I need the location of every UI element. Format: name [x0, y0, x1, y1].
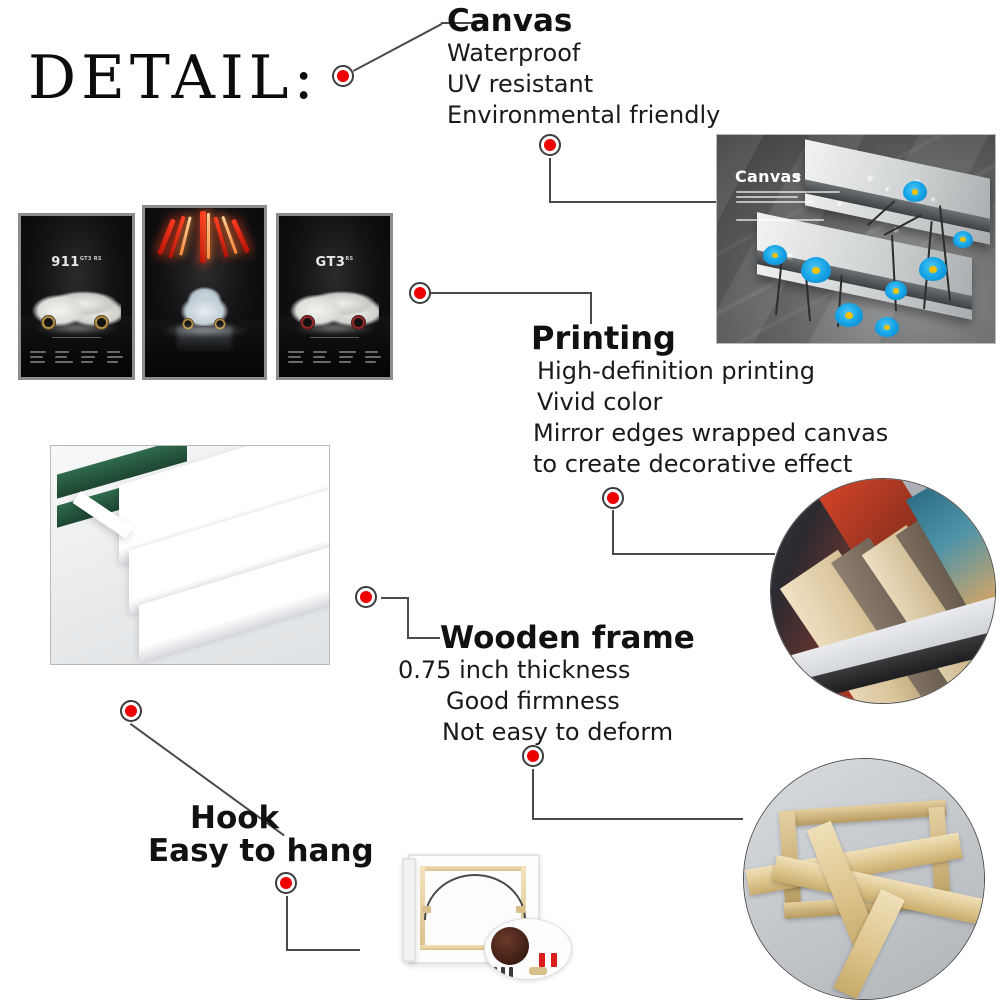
callout-hook-heading: Hook — [190, 802, 374, 835]
wooden-stretcher-bars-circle-photo — [743, 758, 985, 1000]
flower-6 — [919, 257, 947, 281]
connector-mirror-edges-horizontal — [612, 553, 775, 555]
flower-5 — [903, 181, 927, 202]
stacked-white-canvas-photo — [50, 445, 330, 665]
callout-canvas-line-2: UV resistant — [447, 69, 720, 100]
wall-plug-1 — [539, 953, 545, 967]
chevron-down-icon — [793, 175, 801, 180]
marker-hook-photo[interactable] — [275, 872, 297, 894]
marker-mirror-edges[interactable] — [602, 487, 624, 509]
connector-hook-photo-vertical — [286, 896, 288, 951]
poster-panel-3: GT3RS — [276, 213, 393, 380]
callout-printing-line-4: to create decorative effect — [533, 449, 888, 480]
callout-printing-line-1: High-definition printing — [537, 356, 888, 387]
callout-wooden-frame-line-3: Not easy to deform — [442, 717, 695, 748]
flower-7 — [885, 281, 907, 300]
poster-panel-1: 911GT3 RS — [18, 213, 135, 380]
connector-canvas-photo-vertical — [549, 158, 551, 203]
canvas-back-edge — [402, 858, 416, 962]
marker-canvas-photo[interactable] — [539, 134, 561, 156]
callout-printing-line-2: Vivid color — [537, 387, 888, 418]
marker-canvas-text[interactable] — [332, 65, 354, 87]
connector-mirror-edges-vertical — [612, 510, 614, 555]
callout-printing-line-3: Mirror edges wrapped canvas — [533, 418, 888, 449]
flower-2 — [801, 257, 831, 283]
callout-canvas-line-3: Environmental friendly — [447, 100, 720, 131]
hardware-kit-inset — [484, 918, 572, 980]
canvas-back-hook-kit-photo — [380, 832, 580, 972]
car-poster-triptych: 911GT3 RS — [18, 205, 393, 380]
callout-printing: Printing High-definition printing Vivid … — [531, 322, 888, 480]
connector-hook-photo-horizontal — [286, 949, 360, 951]
blue-flower-canvas-photo: Canvas — [716, 134, 996, 344]
marker-hook-text[interactable] — [120, 700, 142, 722]
connector-canvas-photo-horizontal — [549, 201, 716, 203]
flower-4 — [875, 317, 899, 337]
callout-hook: Hook Easy to hang — [148, 802, 374, 867]
canvas-photo-overlay-note — [736, 219, 828, 224]
connector-wood-photo-horizontal — [532, 818, 743, 820]
marker-wood-photo[interactable] — [522, 745, 544, 767]
callout-hook-line-1: Easy to hang — [148, 835, 374, 868]
connector-wood-photo-vertical — [532, 769, 534, 820]
marker-printing[interactable] — [409, 282, 431, 304]
poster-1-label: 911GT3 RS — [21, 251, 132, 270]
callout-wooden-frame-heading: Wooden frame — [440, 622, 695, 655]
poster-3-label: GT3RS — [279, 251, 390, 270]
callout-wooden-frame-line-1: 0.75 inch thickness — [398, 655, 695, 686]
canvas-photo-overlay-title: Canvas — [735, 167, 801, 186]
connector-canvas-text-diagonal — [353, 23, 442, 72]
detail-infographic: DETAIL: Canvas Waterproof UV resistant E… — [0, 0, 1000, 1000]
flower-3 — [835, 303, 863, 327]
connector-printing-horizontal — [430, 292, 592, 294]
page-title: DETAIL: — [28, 48, 319, 108]
mirror-wrapped-edges-circle-photo — [770, 478, 996, 704]
callout-canvas-heading: Canvas — [447, 5, 720, 38]
callout-canvas: Canvas Waterproof UV resistant Environme… — [447, 5, 720, 131]
poster-panel-2 — [142, 205, 267, 380]
callout-wooden-frame: Wooden frame 0.75 inch thickness Good fi… — [398, 622, 695, 748]
flower-1 — [763, 245, 787, 265]
wall-plug-2 — [551, 953, 557, 967]
callout-wooden-frame-line-2: Good firmness — [446, 686, 695, 717]
wire-coil — [491, 927, 529, 965]
canvas-photo-overlay-body — [736, 191, 844, 206]
flower-8 — [953, 231, 973, 248]
marker-wooden-frame[interactable] — [355, 586, 377, 608]
callout-canvas-line-1: Waterproof — [447, 38, 720, 69]
connector-wooden-frame-h1 — [381, 597, 409, 599]
